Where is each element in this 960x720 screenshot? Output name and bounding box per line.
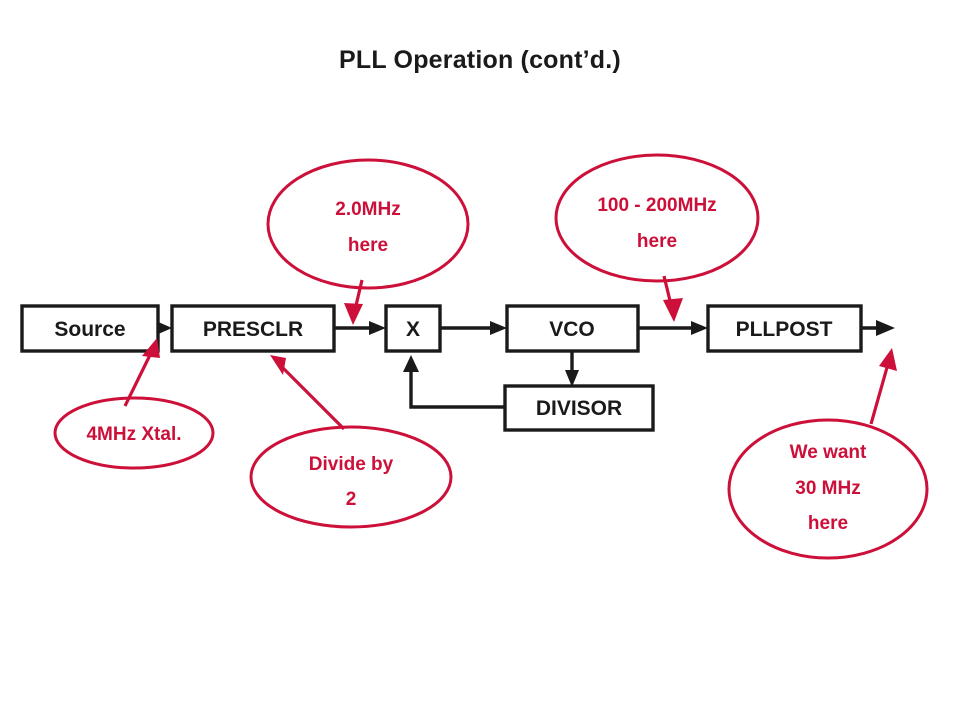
- callout-output-target-leader: [871, 364, 888, 424]
- block-pllpost-label: PLLPOST: [736, 318, 833, 341]
- callout-presclr-out-freq-line2: here: [348, 235, 388, 256]
- block-vco[interactable]: VCO: [507, 306, 638, 351]
- callout-vco-out-freq[interactable]: 100 - 200MHz here: [556, 155, 758, 322]
- wire-divisor-feedback: [411, 366, 505, 407]
- block-vco-label: VCO: [549, 318, 595, 341]
- callout-vco-out-freq-line2: here: [637, 231, 677, 252]
- block-mixer[interactable]: X: [386, 306, 440, 351]
- callout-output-target-line3: here: [808, 513, 848, 534]
- callout-output-target-line2: 30 MHz: [795, 478, 860, 499]
- callout-presclr-divide[interactable]: Divide by 2: [251, 355, 451, 527]
- callout-presclr-divide-arrowhead: [270, 355, 286, 375]
- callout-presclr-out-freq-arrowhead: [344, 303, 363, 325]
- block-pllpost[interactable]: PLLPOST: [708, 306, 861, 351]
- arrowhead-pllpost-output: [876, 320, 895, 336]
- arrowhead-divisor-to-mixer: [403, 355, 419, 372]
- callout-presclr-out-freq-ellipse[interactable]: [268, 160, 468, 288]
- pll-block-diagram: Source PRESCLR X VCO PLLPOST DIVISOR 2.0…: [0, 0, 960, 720]
- block-divisor[interactable]: DIVISOR: [505, 386, 653, 430]
- arrowhead-vco-to-pllpost: [691, 321, 708, 335]
- callout-output-target-line1: We want: [790, 442, 867, 463]
- callout-source-xtal[interactable]: 4MHz Xtal.: [55, 338, 213, 468]
- block-divisor-label: DIVISOR: [536, 397, 622, 420]
- callout-presclr-divide-line1: Divide by: [309, 454, 394, 475]
- callout-presclr-out-freq[interactable]: 2.0MHz here: [268, 160, 468, 325]
- callout-presclr-divide-ellipse[interactable]: [251, 427, 451, 527]
- arrowhead-presclr-to-mixer: [369, 321, 386, 335]
- callout-vco-out-freq-line1: 100 - 200MHz: [597, 195, 716, 216]
- block-presclr-label: PRESCLR: [203, 318, 303, 341]
- callout-vco-out-freq-arrowhead: [663, 298, 683, 322]
- arrowhead-mixer-to-vco: [490, 321, 507, 335]
- callout-presclr-out-freq-line1: 2.0MHz: [335, 199, 400, 220]
- callout-output-target-arrowhead: [879, 348, 897, 371]
- block-source[interactable]: Source: [22, 306, 158, 351]
- block-source-label: Source: [54, 318, 125, 341]
- block-mixer-label: X: [406, 318, 420, 341]
- callout-presclr-divide-leader: [281, 366, 344, 429]
- callout-output-target[interactable]: We want 30 MHz here: [729, 348, 927, 558]
- slide-canvas: PLL Operation (cont’d.): [0, 0, 960, 720]
- callout-source-xtal-line1: 4MHz Xtal.: [86, 424, 181, 445]
- callout-vco-out-freq-ellipse[interactable]: [556, 155, 758, 281]
- callout-presclr-divide-line2: 2: [346, 489, 357, 510]
- block-presclr[interactable]: PRESCLR: [172, 306, 334, 351]
